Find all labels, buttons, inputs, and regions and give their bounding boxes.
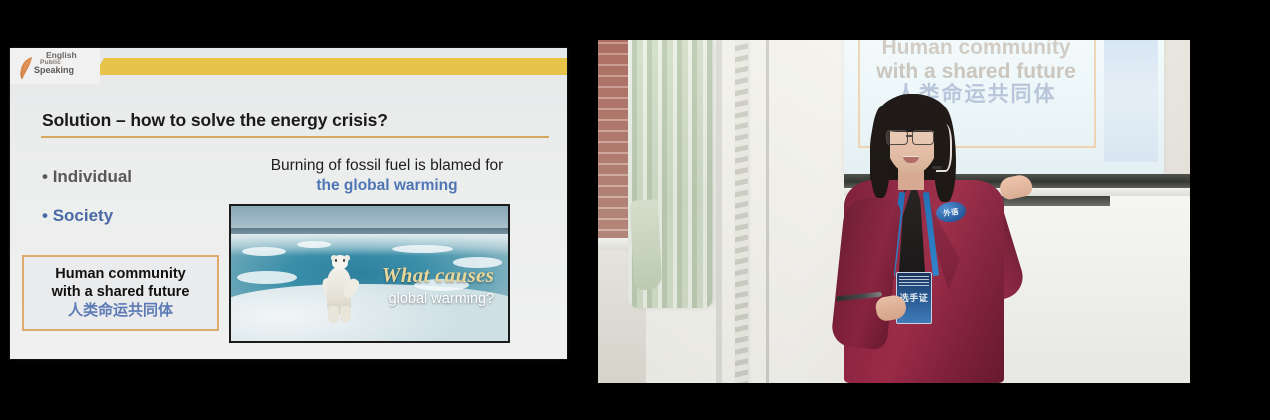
speaker-right-hand-gesture bbox=[998, 173, 1034, 201]
bear-leg-right bbox=[340, 306, 351, 324]
speaker-headset-microphone bbox=[932, 166, 942, 169]
bullet-item-society: • Society bbox=[42, 207, 132, 224]
screen-root: English Public Speaking Solution – how t… bbox=[0, 0, 1270, 420]
highlight-box-line-3-chinese: 人类命运共同体 bbox=[68, 302, 173, 320]
curtain-tieback bbox=[630, 199, 663, 290]
bullet-label: Individual bbox=[53, 167, 132, 186]
speaker-hair-side-left bbox=[870, 106, 890, 198]
photo-ice-chunk bbox=[297, 241, 330, 248]
slide-title: Solution – how to solve the energy crisi… bbox=[42, 110, 388, 131]
presentation-slide-panel: English Public Speaking Solution – how t… bbox=[10, 48, 567, 359]
slide-title-rule bbox=[41, 136, 549, 138]
polar-bear-figure bbox=[322, 255, 358, 323]
wall-pipe-strip bbox=[735, 40, 748, 383]
projection-side-panel bbox=[1104, 40, 1158, 162]
photo-subhead: global warming? bbox=[382, 289, 494, 309]
bullet-label: Society bbox=[53, 206, 113, 225]
speaker-eyeglass-lens-right bbox=[912, 130, 934, 145]
bullet-marker: • bbox=[42, 206, 48, 225]
wall-corner bbox=[716, 40, 722, 383]
highlight-box-line-2: with a shared future bbox=[52, 284, 190, 301]
photo-overlay-text: What causes global warming? bbox=[382, 265, 494, 309]
highlight-box-human-community: Human community with a shared future 人类命… bbox=[22, 255, 219, 331]
photo-ice-chunk bbox=[242, 247, 286, 256]
speaker-eyeglass-lens-left bbox=[886, 130, 908, 145]
caption-line-1: Burning of fossil fuel is blamed for bbox=[222, 156, 552, 176]
speaker-video-panel: Human community with a shared future 人类命… bbox=[598, 40, 1190, 383]
id-card-header-lines bbox=[899, 276, 929, 286]
speaker-person: 选手证 外语 bbox=[818, 88, 1048, 383]
event-logo: English Public Speaking bbox=[10, 48, 100, 84]
logo-line-3: Speaking bbox=[34, 66, 100, 75]
polar-bear-photo: What causes global warming? bbox=[229, 204, 510, 343]
wall-seam bbox=[766, 40, 769, 383]
badge-label: 外语 bbox=[942, 205, 959, 218]
exterior-brick-wall bbox=[598, 40, 632, 240]
bear-leg-left bbox=[328, 306, 339, 324]
slide-caption: Burning of fossil fuel is blamed for the… bbox=[222, 156, 552, 196]
bullet-marker: • bbox=[42, 167, 48, 186]
caption-line-2-highlight: the global warming bbox=[222, 176, 552, 196]
projection-line-2: with a shared future bbox=[860, 60, 1092, 84]
bullet-item-individual: • Individual bbox=[42, 168, 132, 185]
highlight-box-line-1: Human community bbox=[55, 266, 186, 283]
speaker-eyeglass-bridge bbox=[906, 135, 913, 137]
slide-accent-bar bbox=[94, 58, 567, 75]
speaker-headset-band bbox=[936, 124, 952, 172]
slide-bullet-list: • Individual • Society bbox=[42, 168, 132, 246]
projection-line-1: Human community bbox=[860, 40, 1092, 60]
photo-headline: What causes bbox=[382, 265, 494, 286]
